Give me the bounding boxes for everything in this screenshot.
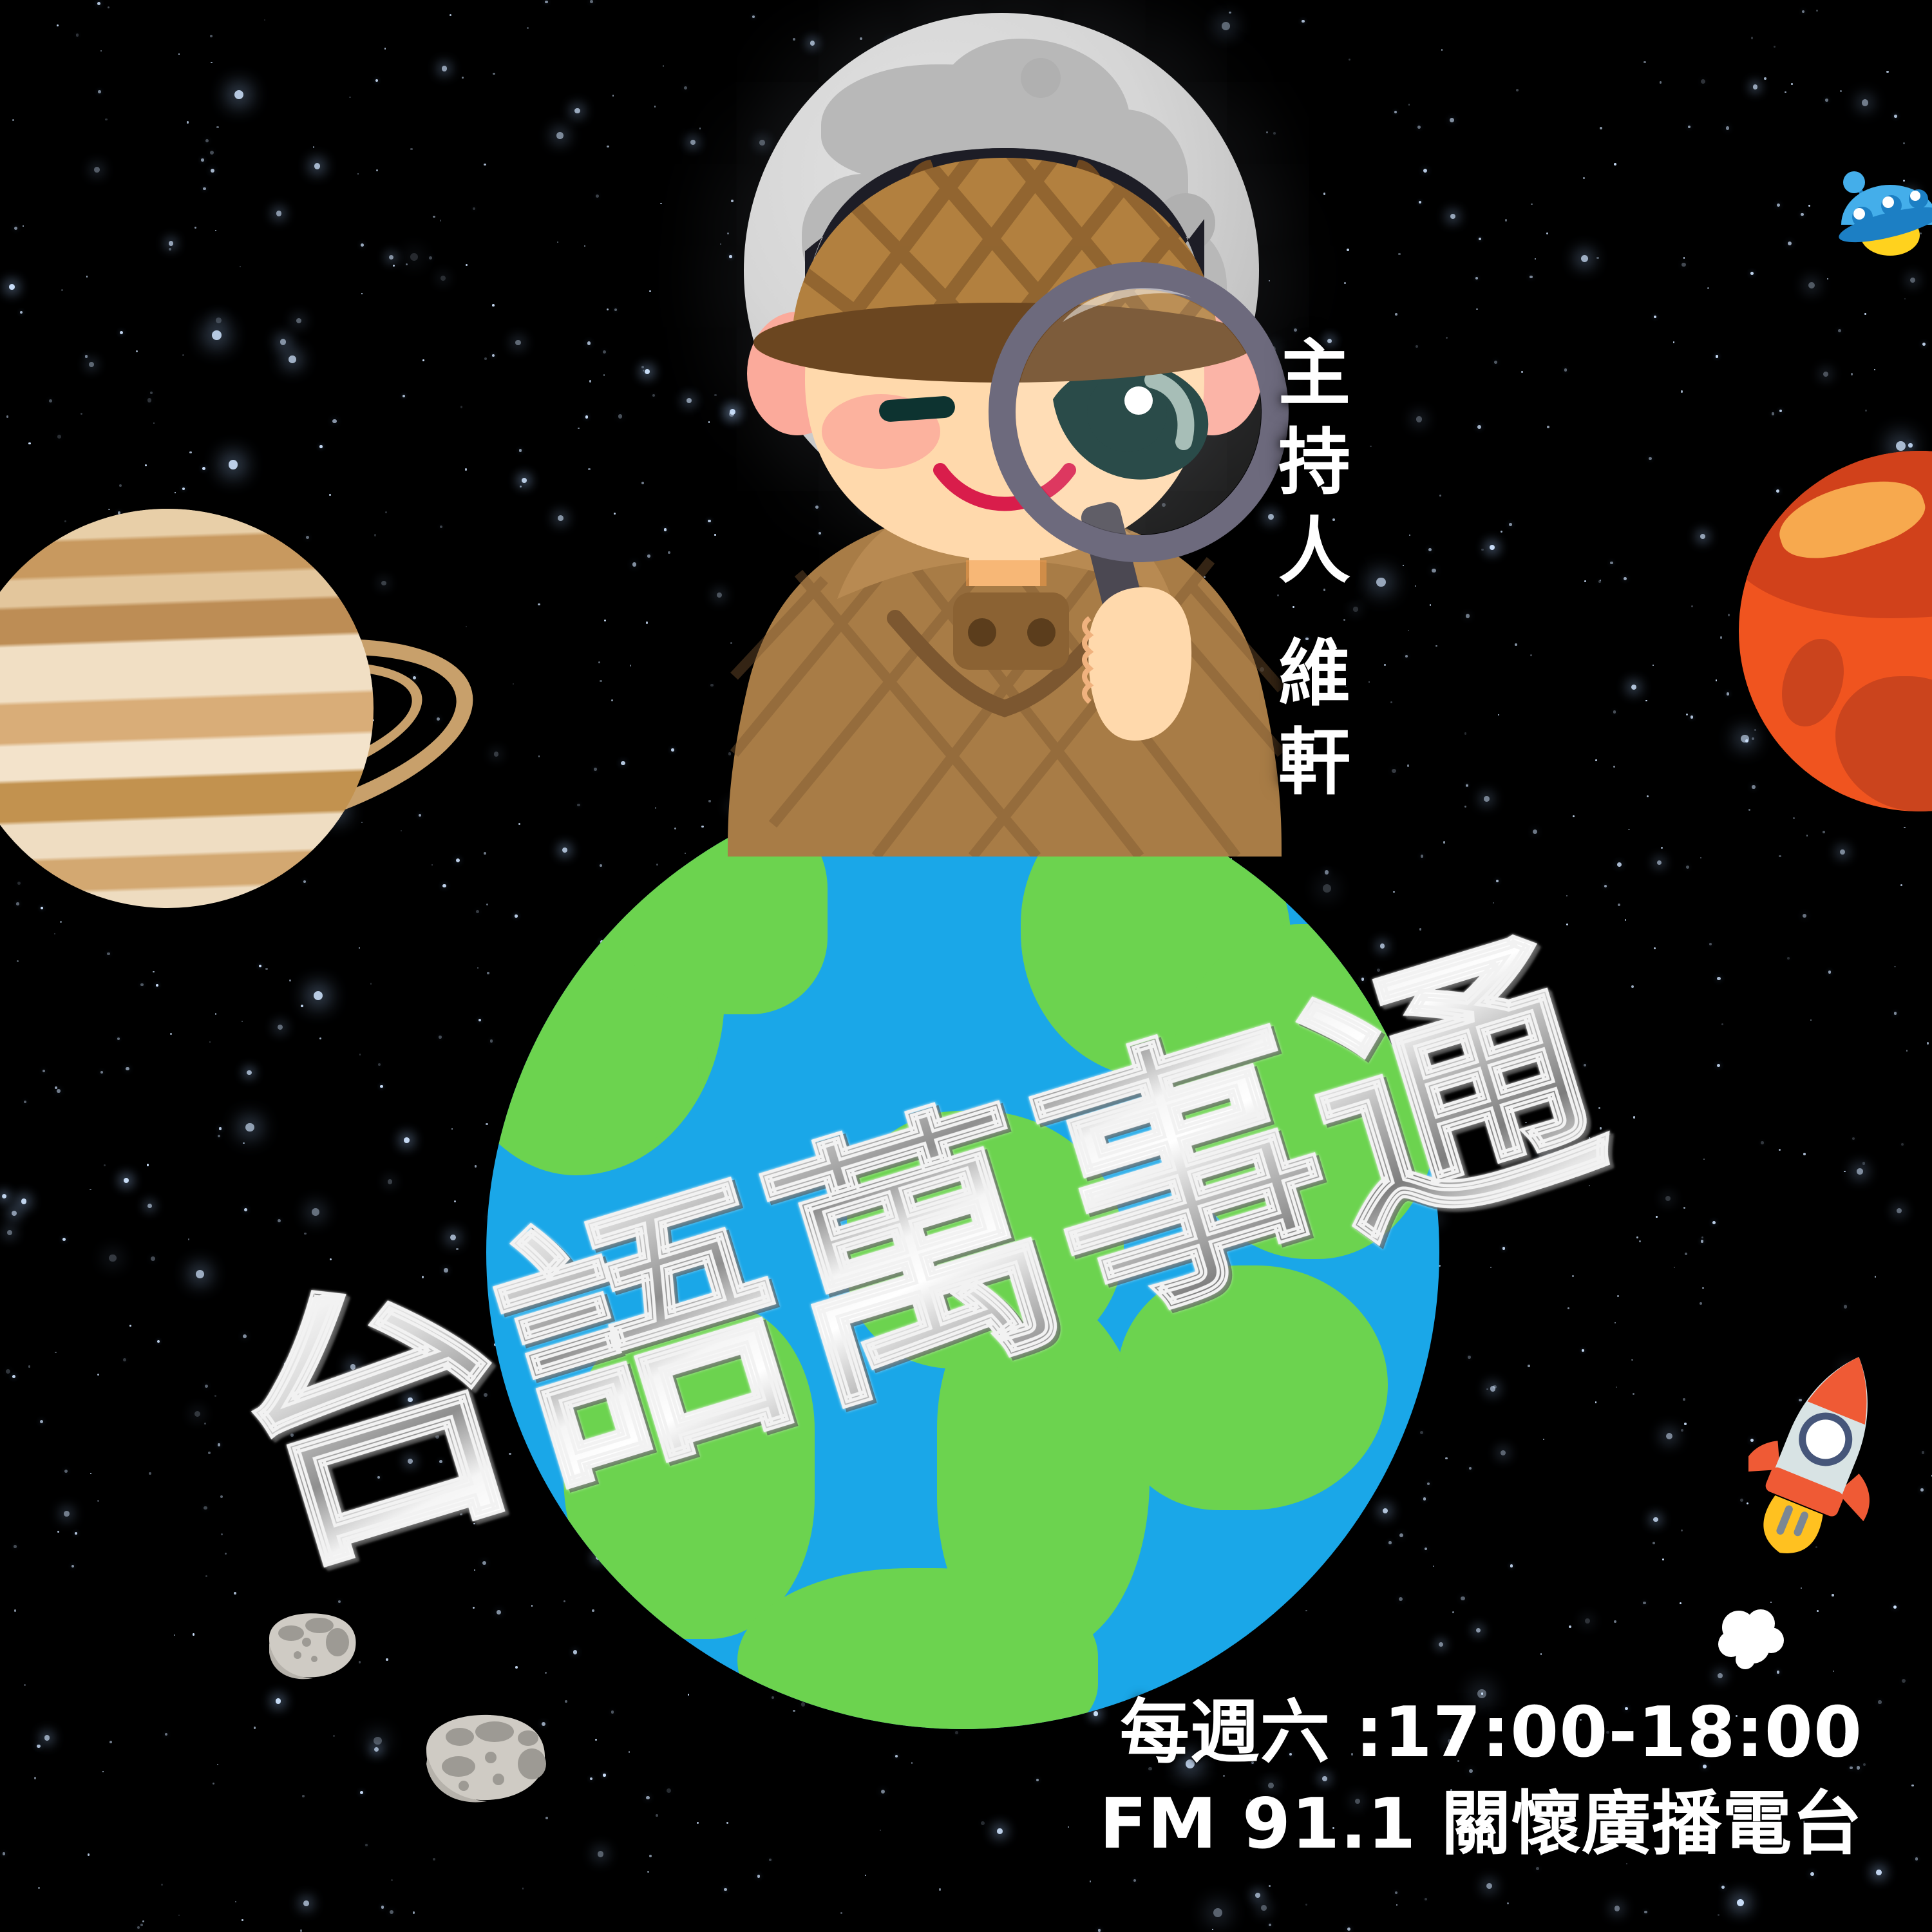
earth-continent <box>1117 1265 1388 1510</box>
moon-crater <box>1021 58 1061 98</box>
asteroid-large <box>419 1710 551 1806</box>
host-credit: 主持人維軒 <box>1272 335 1344 813</box>
ufo-icon <box>1832 171 1932 274</box>
earth-continent <box>563 1304 815 1639</box>
station-text: FM 91.1 關懷廣播電台 <box>1099 1779 1862 1871</box>
asteroid-small <box>258 1610 361 1684</box>
earth-continent <box>1169 924 1439 1259</box>
rocket-icon <box>1748 1349 1897 1562</box>
earth-globe <box>486 776 1439 1729</box>
mars-planet <box>1739 451 1932 811</box>
mars-crater <box>1835 676 1932 811</box>
broadcast-info: 每週六 :17:00-18:00 FM 91.1 關懷廣播電台 <box>1099 1687 1862 1871</box>
cloud-puff <box>1713 1607 1790 1671</box>
saturn-planet <box>0 489 477 927</box>
host-label: 主持人 <box>1266 335 1350 601</box>
earth-continent <box>737 1568 1098 1729</box>
cape-clasp <box>953 592 1069 670</box>
host-name: 維軒 <box>1266 635 1350 813</box>
hand <box>1084 587 1191 741</box>
podcast-cover-art: 台語萬事通 主持人維軒 每週六 :17:00-18:00 FM 91.1 關懷廣… <box>0 0 1932 1932</box>
schedule-text: 每週六 :17:00-18:00 <box>1099 1687 1862 1779</box>
detective-character <box>702 109 1307 857</box>
